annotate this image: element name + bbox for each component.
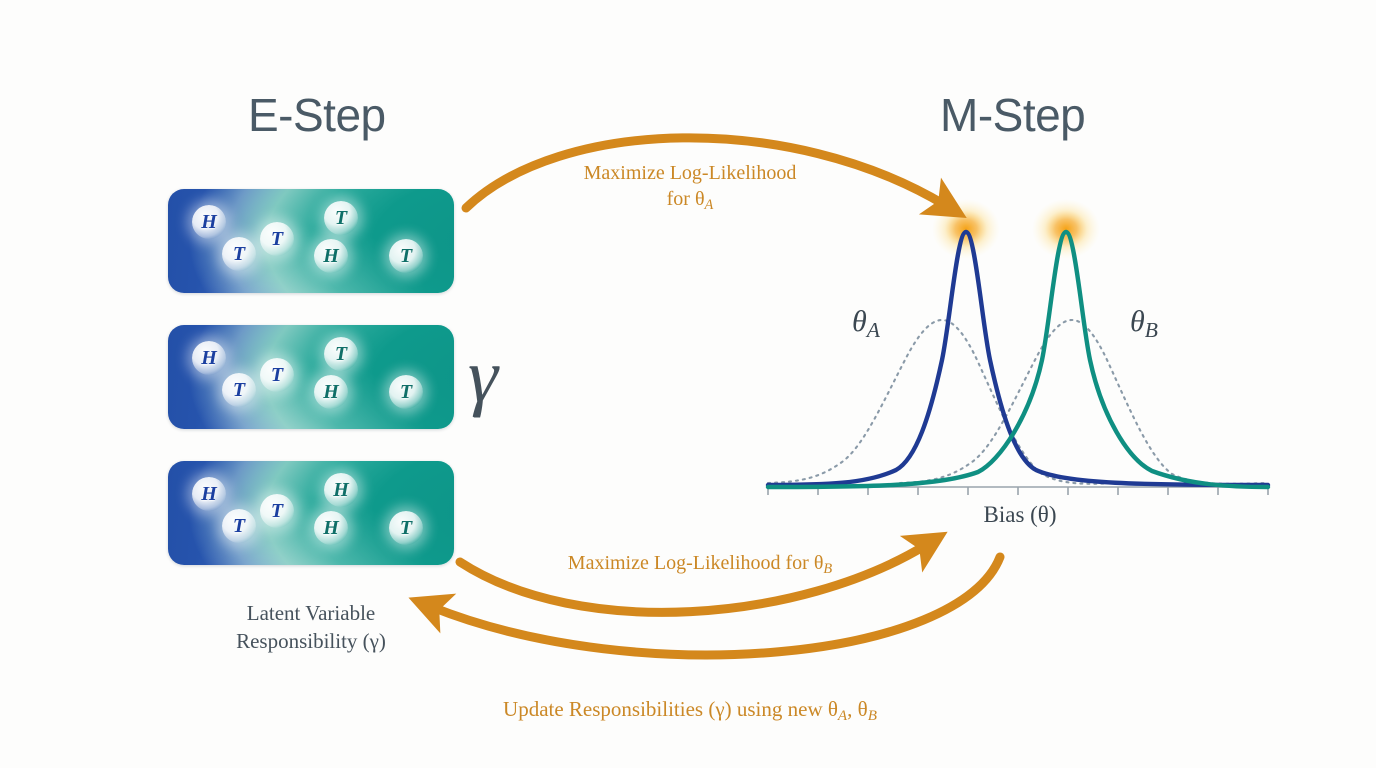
diagram-canvas: E-Step M-Step HTTTHT HTTTHT HTTHHT γ Lat…	[0, 0, 1376, 768]
coin-h: H	[324, 473, 358, 507]
coin-h: H	[192, 341, 226, 375]
arrow-label-maximize-theta-a: Maximize Log-Likelihood for θA	[540, 160, 840, 215]
gamma-symbol: γ	[468, 338, 498, 414]
coin-t: T	[260, 494, 294, 528]
curve-theta-a-previous	[768, 320, 1120, 484]
coin-t: T	[324, 337, 358, 371]
coin-sequence-2[interactable]: HTTTHT	[168, 325, 454, 429]
theta-b-annotation: θB	[1130, 305, 1158, 343]
peak-glow-group	[932, 199, 1100, 259]
arrow-label-line-1: Maximize Log-Likelihood	[540, 160, 840, 186]
x-axis-label: Bias (θ)	[950, 502, 1090, 528]
curve-theta-b-previous	[900, 320, 1268, 484]
coin-h: H	[314, 511, 348, 545]
coin-t: T	[260, 358, 294, 392]
caption-line-2: Responsibility (γ)	[186, 628, 436, 656]
curve-theta-b-updated	[768, 232, 1268, 487]
page-title-estep: E-Step	[248, 88, 386, 142]
x-axis	[768, 487, 1268, 495]
caption-line-1: Latent Variable	[186, 600, 436, 628]
coin-h: H	[314, 239, 348, 273]
coin-t: T	[222, 237, 256, 271]
peak-glow-theta-b	[1032, 199, 1100, 259]
curve-theta-a-updated	[768, 232, 1268, 485]
coin-t: T	[389, 239, 423, 273]
coin-t: T	[222, 509, 256, 543]
latent-variable-caption: Latent Variable Responsibility (γ)	[186, 600, 436, 655]
coin-h: H	[192, 477, 226, 511]
arrow-label-maximize-theta-b: Maximize Log-Likelihood for θB	[520, 550, 880, 579]
page-title-mstep: M-Step	[940, 88, 1085, 142]
theta-a-annotation: θA	[852, 305, 880, 343]
coin-t: T	[389, 511, 423, 545]
coin-sequence-3[interactable]: HTTHHT	[168, 461, 454, 565]
coin-t: T	[389, 375, 423, 409]
coin-t: T	[260, 222, 294, 256]
arrow-label-line-2: for θA	[540, 186, 840, 215]
coin-t: T	[222, 373, 256, 407]
coin-sequence-1[interactable]: HTTTHT	[168, 189, 454, 293]
coin-t: T	[324, 201, 358, 235]
coin-h: H	[314, 375, 348, 409]
arrow-label-update-responsibilities: Update Responsibilities (γ) using new θA…	[440, 696, 940, 727]
coin-h: H	[192, 205, 226, 239]
peak-glow-theta-a	[932, 199, 1000, 259]
